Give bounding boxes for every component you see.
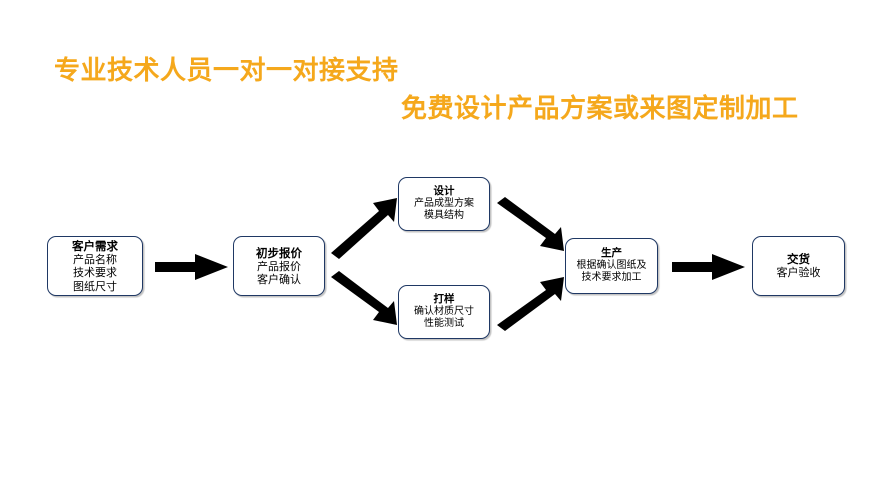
arrow-design-to-production (497, 197, 564, 251)
arrow-production-to-delivery (672, 254, 745, 280)
flow-box-customer-demand[interactable]: 客户需求 产品名称 技术要求 图纸尺寸 (47, 236, 143, 296)
flow-box-detail-line: 产品报价 (257, 260, 301, 273)
arrow-quote-to-design-placeholder-down (331, 271, 397, 325)
flow-box-title: 初步报价 (256, 246, 302, 260)
flow-box-detail-line: 性能测试 (424, 318, 464, 330)
flow-box-design[interactable]: 设计 产品成型方案 模具结构 (398, 177, 490, 231)
headline-secondary: 免费设计产品方案或来图定制加工 (401, 88, 799, 125)
flow-box-preliminary-quote[interactable]: 初步报价 产品报价 客户确认 (233, 236, 325, 296)
flow-box-title: 设计 (434, 185, 455, 198)
flow-box-detail-line: 模具结构 (424, 210, 464, 222)
arrow-sample-to-production (497, 277, 564, 331)
flow-box-detail-line: 技术要求 (73, 266, 117, 279)
arrow-demand-to-quote (155, 254, 228, 280)
flow-box-sampling[interactable]: 打样 确认材质尺寸 性能测试 (398, 285, 490, 339)
flow-box-detail-line: 客户验收 (777, 266, 821, 279)
flow-box-detail-line: 产品名称 (73, 253, 117, 266)
flow-box-delivery[interactable]: 交货 客户验收 (752, 236, 845, 296)
flow-box-title: 交货 (787, 252, 810, 266)
flow-box-detail-line: 产品成型方案 (414, 198, 474, 210)
flow-box-production[interactable]: 生产 根据确认图纸及 技术要求加工 (565, 238, 658, 294)
slide-canvas: 专业技术人员一对一对接支持 免费设计产品方案或来图定制加工 客户需求 产品名称 … (0, 0, 892, 499)
flow-box-detail-line: 根据确认图纸及 (577, 260, 647, 272)
flow-box-title: 客户需求 (72, 239, 118, 253)
flow-box-detail-line: 技术要求加工 (582, 272, 642, 284)
arrow-quote-to-sample-placeholder-up (331, 198, 397, 259)
flow-box-detail-line: 客户确认 (257, 273, 301, 286)
headline-primary: 专业技术人员一对一对接支持 (54, 50, 399, 87)
flow-box-title: 打样 (434, 293, 455, 306)
flow-box-detail-line: 确认材质尺寸 (414, 306, 474, 318)
flow-box-title: 生产 (601, 247, 622, 260)
flow-box-detail-line: 图纸尺寸 (73, 280, 117, 293)
